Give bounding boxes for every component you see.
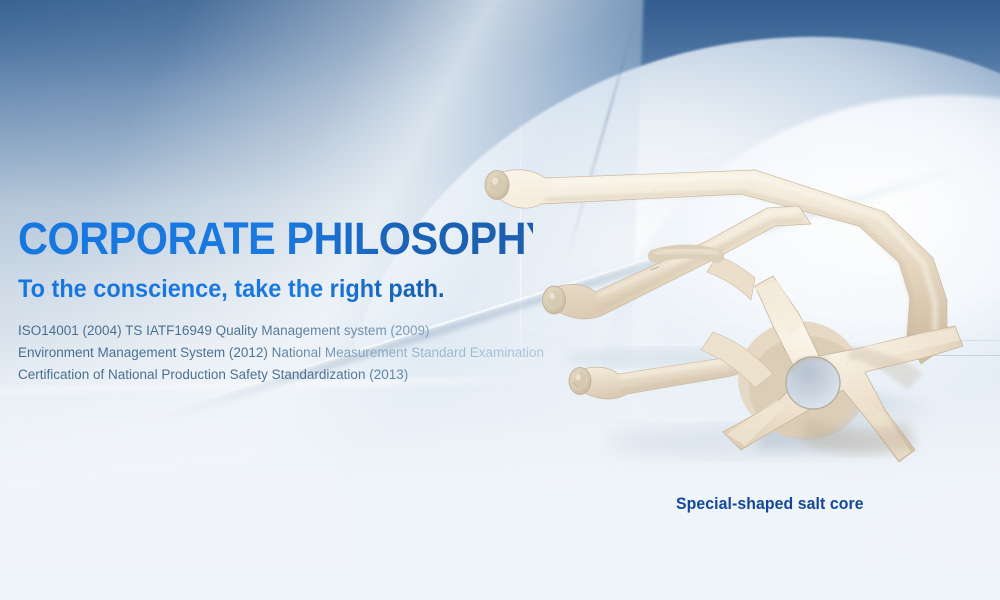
- page-title: CORPORATE PHILOSOPHY: [18, 214, 533, 264]
- certification-list: ISO14001 (2004) TS IATF16949 Quality Man…: [18, 320, 578, 386]
- certification-line: Certification of National Production Saf…: [18, 364, 578, 386]
- corporate-philosophy-banner: CORPORATE PHILOSOPHY To the conscience, …: [0, 0, 1000, 600]
- background-seam-line: [880, 355, 1000, 356]
- text-block: CORPORATE PHILOSOPHY To the conscience, …: [18, 214, 578, 386]
- certification-line: Environment Management System (2012) Nat…: [18, 342, 578, 364]
- certification-line: ISO14001 (2004) TS IATF16949 Quality Man…: [18, 320, 578, 342]
- background-seam-line-secondary: [905, 340, 1000, 341]
- product-caption: Special-shaped salt core: [676, 494, 864, 514]
- page-subtitle: To the conscience, take the right path.: [18, 274, 544, 304]
